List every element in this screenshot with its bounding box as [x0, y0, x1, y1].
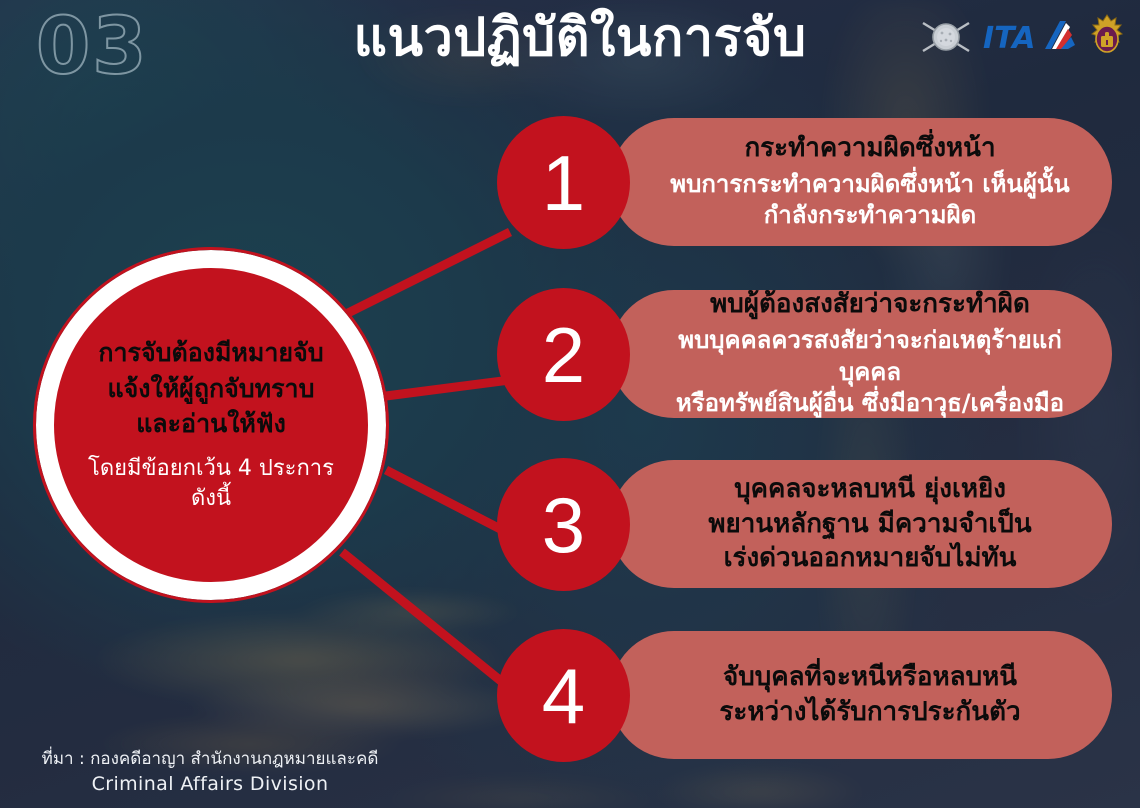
item-card-3: บุคคลจะหลบหนี ยุ่งเหยิง พยานหลักฐาน มีคว…	[610, 460, 1112, 588]
item-body-line-2-2: หรือทรัพย์สินผู้อื่น ซึ่งมีอาวุธ/เครื่อง…	[654, 388, 1086, 420]
garuda-emblem-icon	[1088, 12, 1126, 62]
ita-wordmark: ITA	[983, 21, 1036, 56]
item-number-bubble-4: 4	[497, 629, 630, 762]
item-body-line-3-3: เร่งด่วนออกหมายจับไม่ทัน	[708, 541, 1031, 576]
item-number-bubble-3: 3	[497, 458, 630, 591]
item-number-2: 2	[542, 316, 585, 394]
infographic-root: 03 แนวปฏิบัติในการจับ ITA	[0, 0, 1140, 808]
item-body-2: พบบุคคลควรสงสัยว่าจะก่อเหตุร้ายแก่บุคคล …	[654, 325, 1086, 420]
hub-sub-line-1: โดยมีข้อยกเว้น 4 ประการ	[88, 454, 334, 484]
item-number-4: 4	[542, 657, 585, 735]
footer-source-english: Criminal Affairs Division	[10, 771, 410, 798]
hub-sub-text: โดยมีข้อยกเว้น 4 ประการ ดังนี้	[58, 454, 364, 515]
list-item-3[interactable]: บุคคลจะหลบหนี ยุ่งเหยิง พยานหลักฐาน มีคว…	[497, 460, 1112, 588]
item-number-1: 1	[542, 144, 585, 222]
item-body-line-4-1: จับบุคลที่จะหนีหรือหลบหนี	[719, 660, 1020, 695]
item-body-line-3-2: พยานหลักฐาน มีความจำเป็น	[708, 507, 1031, 542]
list-item-4[interactable]: จับบุคลที่จะหนีหรือหลบหนี ระหว่างได้รับก…	[497, 631, 1112, 759]
item-body-line-4-2: ระหว่างได้รับการประกันตัว	[719, 695, 1020, 730]
logo-group: ITA	[920, 8, 1126, 66]
item-title-1: กระทำความผิดซึ่งหน้า	[744, 132, 995, 166]
ita-logo-icon: ITA	[982, 15, 1078, 59]
item-body-1: พบการกระทำความผิดซึ่งหน้า เห็นผู้นั้น กำ…	[670, 169, 1069, 232]
list-item-1[interactable]: กระทำความผิดซึ่งหน้า พบการกระทำความผิดซึ…	[497, 118, 1112, 246]
item-number-bubble-2: 2	[497, 288, 630, 421]
hub-sub-line-2: ดังนี้	[88, 484, 334, 514]
item-card-1: กระทำความผิดซึ่งหน้า พบการกระทำความผิดซึ…	[610, 118, 1112, 246]
section-number: 03	[36, 2, 149, 92]
hub-main-line-1: การจับต้องมีหมายจับ	[98, 335, 323, 371]
item-card-4: จับบุคลที่จะหนีหรือหลบหนี ระหว่างได้รับก…	[610, 631, 1112, 759]
item-body-3: บุคคลจะหลบหนี ยุ่งเหยิง พยานหลักฐาน มีคว…	[708, 472, 1031, 576]
hub-main-text: การจับต้องมีหมายจับ แจ้งให้ผู้ถูกจับทราบ…	[82, 335, 339, 442]
hub-main-line-2: แจ้งให้ผู้ถูกจับทราบ	[98, 371, 323, 407]
item-title-2: พบผู้ต้องสงสัยว่าจะกระทำผิด	[710, 288, 1030, 322]
item-body-line-1-1: พบการกระทำความผิดซึ่งหน้า เห็นผู้นั้น	[670, 169, 1069, 201]
hub-main-line-3: และอ่านให้ฟัง	[98, 406, 323, 442]
item-number-bubble-1: 1	[497, 116, 630, 249]
page-title: แนวปฏิบัติในการจับ	[300, 6, 860, 71]
footer-source-thai: ที่มา : กองคดีอาญา สำนักงานกฎหมายและคดี	[10, 748, 410, 771]
footer-source: ที่มา : กองคดีอาญา สำนักงานกฎหมายและคดี …	[10, 748, 410, 798]
item-body-line-1-2: กำลังกระทำความผิด	[670, 200, 1069, 232]
item-body-4: จับบุคลที่จะหนีหรือหลบหนี ระหว่างได้รับก…	[719, 660, 1020, 730]
central-circle: การจับต้องมีหมายจับ แจ้งให้ผู้ถูกจับทราบ…	[36, 250, 386, 600]
seal-emblem-icon	[920, 12, 972, 62]
item-body-line-3-1: บุคคลจะหลบหนี ยุ่งเหยิง	[708, 472, 1031, 507]
item-card-2: พบผู้ต้องสงสัยว่าจะกระทำผิด พบบุคคลควรสง…	[610, 290, 1112, 418]
item-number-3: 3	[542, 486, 585, 564]
item-body-line-2-1: พบบุคคลควรสงสัยว่าจะก่อเหตุร้ายแก่บุคคล	[654, 325, 1086, 388]
list-item-2[interactable]: พบผู้ต้องสงสัยว่าจะกระทำผิด พบบุคคลควรสง…	[497, 290, 1112, 418]
